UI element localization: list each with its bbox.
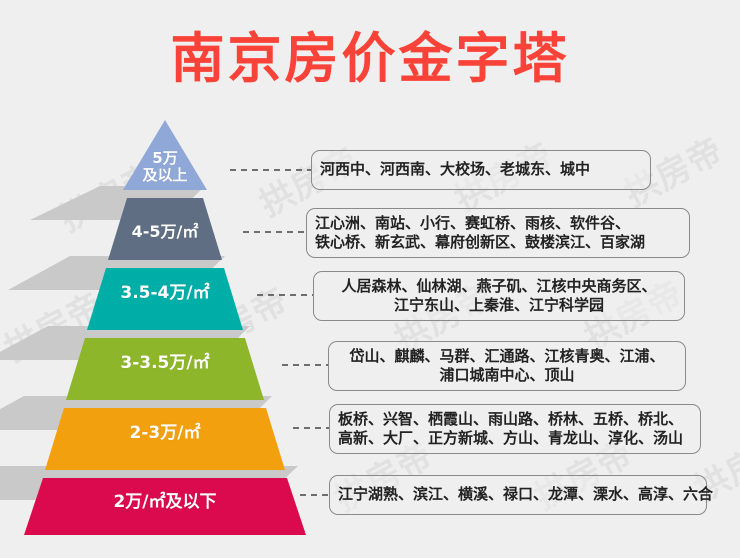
district-box-tier-3[interactable]: 人居森林、仙林湖、燕子矶、江核中央商务区、 江宁东山、上秦淮、江宁科学园 (313, 271, 685, 321)
district-box-tier-2[interactable]: 江心洲、南站、小行、赛虹桥、雨核、软件谷、 铁心桥、新玄武、幕府创新区、鼓楼滨江… (306, 208, 690, 258)
infographic-canvas: 拱房帝拱房帝拱房帝拱房帝拱房帝拱房帝拱房帝拱房帝拱房帝拱房帝拱房帝拱房帝 南京房… (0, 0, 740, 558)
district-line: 浦口城南中心、顶山 (337, 366, 677, 385)
district-line: 河西中、河西南、大校场、老城东、城中 (320, 160, 642, 179)
district-box-tier-5[interactable]: 板桥、兴智、栖霞山、雨山路、桥林、五桥、桥北、 高新、大厂、正方新城、方山、青龙… (329, 404, 701, 454)
district-line: 江宁东山、上秦淮、江宁科学园 (322, 296, 676, 315)
district-box-tier-4[interactable]: 岱山、麒麟、马群、汇通路、江核青奥、江浦、 浦口城南中心、顶山 (328, 341, 686, 391)
district-line: 江心洲、南站、小行、赛虹桥、雨核、软件谷、 (315, 214, 681, 233)
district-line: 高新、大厂、正方新城、方山、青龙山、淳化、汤山 (338, 429, 692, 448)
district-line: 岱山、麒麟、马群、汇通路、江核青奥、江浦、 (337, 347, 677, 366)
district-line: 人居森林、仙林湖、燕子矶、江核中央商务区、 (322, 277, 676, 296)
district-line: 江宁湖熟、滨江、横溪、禄口、龙潭、溧水、高淳、六合 (338, 485, 698, 504)
district-line: 板桥、兴智、栖霞山、雨山路、桥林、五桥、桥北、 (338, 410, 692, 429)
page-title: 南京房价金字塔 (0, 14, 740, 93)
district-box-tier-6[interactable]: 江宁湖熟、滨江、横溪、禄口、龙潭、溧水、高淳、六合 (329, 475, 707, 515)
district-line: 铁心桥、新玄武、幕府创新区、鼓楼滨江、百家湖 (315, 233, 681, 252)
district-box-tier-1[interactable]: 河西中、河西南、大校场、老城东、城中 (311, 150, 651, 190)
